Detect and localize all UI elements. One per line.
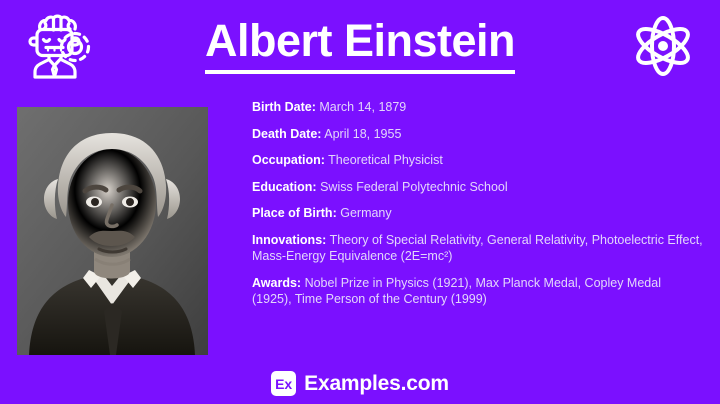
detail-row-birth-date: Birth Date: March 14, 1879	[252, 99, 704, 116]
detail-label: Death Date:	[252, 127, 321, 141]
portrait-photo	[17, 107, 208, 355]
detail-label: Innovations:	[252, 233, 326, 247]
detail-label: Birth Date:	[252, 100, 316, 114]
detail-label: Place of Birth:	[252, 206, 337, 220]
detail-label: Education:	[252, 180, 317, 194]
page-title: Albert Einstein	[205, 18, 515, 74]
detail-row-education: Education: Swiss Federal Polytechnic Sch…	[252, 179, 704, 196]
detail-row-death-date: Death Date: April 18, 1955	[252, 126, 704, 143]
details-list: Birth Date: March 14, 1879 Death Date: A…	[252, 99, 704, 318]
detail-value: Nobel Prize in Physics (1921), Max Planc…	[252, 276, 661, 307]
examples-logo-mark: Ex	[271, 371, 296, 396]
detail-value: Swiss Federal Polytechnic School	[320, 180, 508, 194]
header: Albert Einstein	[0, 0, 720, 92]
portrait-image	[17, 107, 208, 355]
detail-value: April 18, 1955	[324, 127, 401, 141]
detail-label: Occupation:	[252, 153, 325, 167]
detail-row-place-of-birth: Place of Birth: Germany	[252, 205, 704, 222]
detail-row-occupation: Occupation: Theoretical Physicist	[252, 152, 704, 169]
detail-value: Theoretical Physicist	[328, 153, 443, 167]
detail-row-awards: Awards: Nobel Prize in Physics (1921), M…	[252, 275, 704, 308]
detail-value: March 14, 1879	[319, 100, 406, 114]
examples-logo-text: Examples.com	[304, 372, 449, 396]
footer-branding: Ex Examples.com	[0, 371, 720, 396]
atom-icon	[624, 7, 702, 85]
title-wrap: Albert Einstein	[96, 0, 624, 92]
detail-label: Awards:	[252, 276, 301, 290]
detail-value: Germany	[340, 206, 391, 220]
infographic-card: Albert Einstein	[0, 0, 720, 404]
detail-row-innovations: Innovations: Theory of Special Relativit…	[252, 232, 704, 265]
scientist-brain-gear-icon	[18, 7, 96, 85]
